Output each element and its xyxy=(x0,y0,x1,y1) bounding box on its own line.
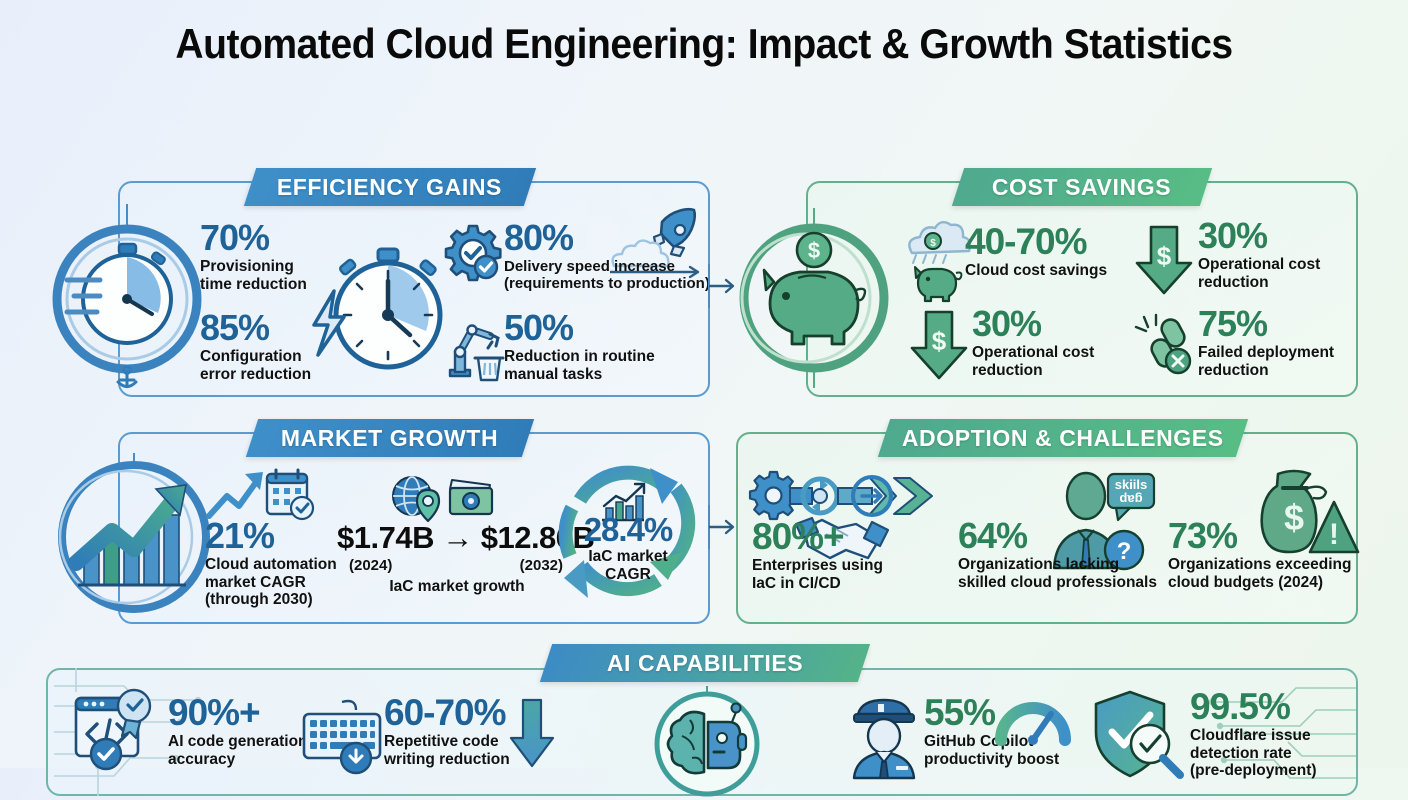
stat-exceeding-cloud-budgets: 73% Organizations exceeding cloud budget… xyxy=(1168,518,1351,591)
robot-arm-trash-icon xyxy=(442,318,508,384)
stat-provisioning-time-reduction: 70% Provisioning time reduction xyxy=(200,220,307,293)
stat-label: Reduction in routine manual tasks xyxy=(504,348,655,383)
stopwatch-lightning-icon xyxy=(304,243,454,378)
stat-label: Provisioning time reduction xyxy=(200,258,307,293)
stat-value: 60-70% xyxy=(384,694,510,731)
broken-chain-x-icon xyxy=(1134,311,1200,377)
banner-label: EFFICIENCY GAINS xyxy=(277,174,502,201)
banner-label: MARKET GROWTH xyxy=(281,425,498,452)
stat-value: 21% xyxy=(205,518,337,554)
svg-text:$: $ xyxy=(1157,241,1172,271)
stat-value: 30% xyxy=(1198,218,1320,254)
page-title: Automated Cloud Engineering: Impact & Gr… xyxy=(49,0,1358,68)
down-arrow-icon xyxy=(508,698,556,768)
stat-ai-code-generation-accuracy: 90%+ AI code generation accuracy xyxy=(168,694,308,768)
banner-label: AI CAPABILITIES xyxy=(607,650,803,677)
code-window-badge-icon xyxy=(72,688,166,778)
stat-label: Operational cost reduction xyxy=(1198,256,1320,291)
pilot-gauge-icon xyxy=(848,690,924,778)
svg-text:$: $ xyxy=(930,238,936,249)
stat-label: AI code generation accuracy xyxy=(168,733,308,768)
market-from-value: $1.74B xyxy=(337,520,434,555)
stat-repetitive-code-reduction: 60-70% Repetitive code writing reduction xyxy=(384,694,510,768)
stat-delivery-speed-increase: 80% Delivery speed increase (requirement… xyxy=(504,220,710,292)
stat-configuration-error-reduction: 85% Configuration error reduction xyxy=(200,310,311,383)
stat-label: Cloud automation market CAGR (through 20… xyxy=(205,556,337,609)
stat-label: Configuration error reduction xyxy=(200,348,311,383)
banner-cost-savings: COST SAVINGS xyxy=(952,168,1212,206)
stat-value: 50% xyxy=(504,310,655,346)
svg-text:$: $ xyxy=(808,238,820,263)
connector-arrow-right-icon xyxy=(706,264,742,308)
cloud-rain-coins-icon: $ xyxy=(900,223,970,295)
stat-value: 73% xyxy=(1168,518,1351,554)
stat-routine-task-reduction: 50% Reduction in routine manual tasks xyxy=(504,310,655,383)
stat-enterprises-using-iac: 80%+ Enterprises using IaC in CI/CD xyxy=(752,518,883,592)
stat-value: 80% xyxy=(504,220,710,256)
brain-robot-icon xyxy=(648,686,766,800)
gauge-meter-icon xyxy=(993,696,1073,746)
stat-value: 85% xyxy=(200,310,311,346)
stat-cloud-automation-cagr: 21% Cloud automation market CAGR (throug… xyxy=(205,518,337,609)
stat-value: 40-70% xyxy=(965,223,1107,260)
svg-text:skiils: skiils xyxy=(1115,477,1148,492)
market-growth-caption: IaC market growth xyxy=(337,578,577,596)
stat-label: Organizations lacking skilled cloud prof… xyxy=(958,556,1157,591)
stat-label: Repetitive code writing reduction xyxy=(384,733,510,768)
market-growth-figures: $1.74B → $12.86B (2024) (2032) IaC marke… xyxy=(337,520,577,596)
banner-label: COST SAVINGS xyxy=(992,174,1171,201)
market-arrow-icon: → xyxy=(442,520,473,555)
banner-ai-capabilities: AI CAPABILITIES xyxy=(540,644,870,682)
keyboard-download-icon xyxy=(298,698,394,774)
stat-failed-deployment-reduction: 75% Failed deployment reduction xyxy=(1198,306,1334,379)
stat-operational-cost-reduction-top: 30% Operational cost reduction xyxy=(1198,218,1320,291)
stat-label: IaC market CAGR xyxy=(566,548,690,583)
stat-cloud-cost-savings: 40-70% Cloud cost savings xyxy=(965,223,1107,280)
banner-label: ADOPTION & CHALLENGES xyxy=(902,425,1224,452)
infographic-board: EFFICIENCY GAINS xyxy=(0,68,1408,768)
connector-arrow-right-icon xyxy=(706,505,742,549)
banner-adoption-challenges: ADOPTION & CHALLENGES xyxy=(878,419,1248,457)
piggy-bank-icon: $ xyxy=(736,208,892,388)
down-arrow-dollar-icon: $ xyxy=(908,308,970,382)
shield-magnifier-check-icon xyxy=(1092,688,1192,780)
stat-value: 75% xyxy=(1198,306,1334,342)
svg-text:$: $ xyxy=(932,326,947,356)
market-from-year: (2024) xyxy=(349,557,392,574)
svg-text:gap: gap xyxy=(1119,492,1142,507)
banner-market-growth: MARKET GROWTH xyxy=(246,419,534,457)
stat-iac-market-cagr: 28.4% IaC market CAGR xyxy=(566,513,690,583)
stat-label: Organizations exceeding cloud budgets (2… xyxy=(1168,556,1351,591)
stat-label: Cloudflare issue detection rate (pre-dep… xyxy=(1190,727,1317,780)
stat-operational-cost-reduction-bottom: 30% Operational cost reduction xyxy=(972,306,1094,379)
stat-cloudflare-detection-rate: 99.5% Cloudflare issue detection rate (p… xyxy=(1190,688,1317,780)
banner-efficiency-gains: EFFICIENCY GAINS xyxy=(244,168,536,206)
stat-label: Operational cost reduction xyxy=(972,344,1094,379)
stat-skills-gap: 64% Organizations lacking skilled cloud … xyxy=(958,518,1157,591)
stat-value: 28.4% xyxy=(566,513,690,546)
stat-value: 99.5% xyxy=(1190,688,1317,725)
stat-label: Failed deployment reduction xyxy=(1198,344,1334,379)
globe-pin-cash-icon xyxy=(388,474,500,524)
stat-value: 64% xyxy=(958,518,1157,554)
gear-check-icon xyxy=(444,224,502,282)
stat-label: Cloud cost savings xyxy=(965,262,1107,280)
growth-chart-arrow-icon xyxy=(50,453,218,621)
stat-label: Enterprises using IaC in CI/CD xyxy=(752,557,883,592)
stat-value: 70% xyxy=(200,220,307,256)
stat-label: Delivery speed increase (requirements to… xyxy=(504,258,710,292)
stat-value: 90%+ xyxy=(168,694,308,731)
down-arrow-dollar-icon: $ xyxy=(1133,223,1195,297)
stat-value: 30% xyxy=(972,306,1094,342)
stat-value: 80%+ xyxy=(752,518,883,555)
stopwatch-speed-icon xyxy=(52,204,202,394)
